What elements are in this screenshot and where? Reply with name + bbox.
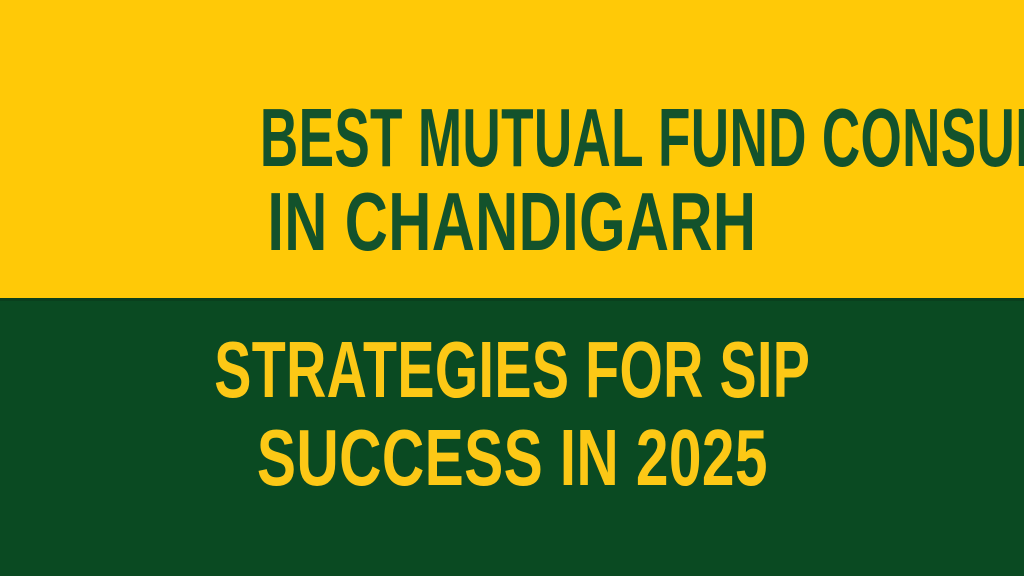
main-title-line-2: IN CHANDIGARH (0, 180, 1024, 264)
subtitle-line-2: SUCCESS IN 2025 (0, 414, 1024, 502)
subtitle: STRATEGIES FOR SIP SUCCESS IN 2025 (0, 326, 1024, 502)
main-title-line-2-text: IN CHANDIGARH (267, 180, 756, 264)
promotional-banner: BEST MUTUAL FUND CONSULTANT IN CHANDIGAR… (0, 0, 1024, 576)
subtitle-line-2-text: SUCCESS IN 2025 (257, 414, 768, 502)
main-title-line-1-text: BEST MUTUAL FUND CONSULTANT (260, 96, 1024, 180)
subtitle-line-1-text: STRATEGIES FOR SIP (214, 326, 810, 414)
subtitle-line-1: STRATEGIES FOR SIP (0, 326, 1024, 414)
main-title-line-1: BEST MUTUAL FUND CONSULTANT (0, 96, 1024, 180)
main-title: BEST MUTUAL FUND CONSULTANT IN CHANDIGAR… (0, 96, 1024, 264)
